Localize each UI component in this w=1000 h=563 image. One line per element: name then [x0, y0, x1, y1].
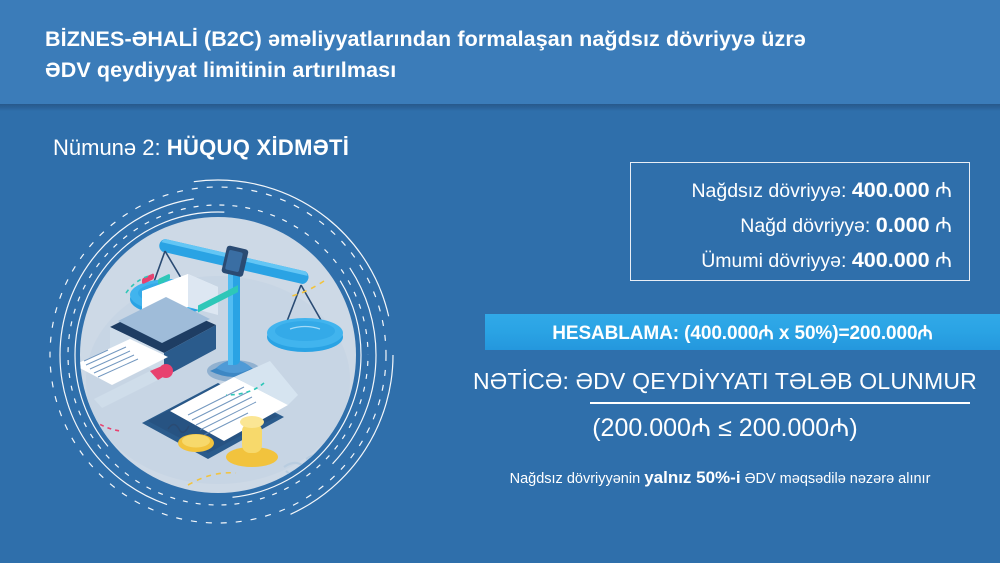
figure-row-cashless: Nağdsız dövriyyə: 400.000 ₼	[691, 176, 952, 204]
subtitle-lead: Nümunə 2:	[53, 135, 161, 160]
footnote-strong: yalnız 50%-i	[644, 468, 740, 487]
subtitle: Nümunə 2: HÜQUQ XİDMƏTİ	[53, 134, 349, 162]
result-underline	[590, 402, 970, 404]
figure-row-cash: Nağd dövriyyə: 0.000 ₼	[740, 211, 952, 239]
subtitle-strong: HÜQUQ XİDMƏTİ	[167, 135, 349, 160]
result-headline: NƏTİCƏ: ƏDV QEYDİYYATI TƏLƏB OLUNMUR	[470, 368, 980, 395]
figure-label: Ümumi dövriyyə:	[701, 250, 846, 272]
figure-value: 0.000	[876, 213, 930, 237]
turnover-figures-box: Nağdsız dövriyyə: 400.000 ₼ Nağd dövriyy…	[630, 162, 970, 281]
figure-row-total: Ümumi dövriyyə: 400.000 ₼	[701, 246, 952, 274]
slide-root: BİZNES-ƏHALİ (B2C) əməliyyatlarından for…	[0, 0, 1000, 563]
footnote: Nağdsız dövriyyənin yalnız 50%-i ƏDV məq…	[450, 468, 990, 488]
header-shadow-divider	[0, 104, 1000, 111]
calculation-text: HESABLAMA: (400.000₼ x 50%)=200.000₼	[552, 319, 932, 345]
result-comparison: (200.000₼ ≤ 200.000₼)	[470, 410, 980, 444]
figure-label: Nağd dövriyyə:	[740, 215, 870, 237]
manat-symbol: ₼	[935, 249, 952, 272]
footnote-part2: ƏDV məqsədilə nəzərə alınır	[741, 471, 931, 487]
page-title: BİZNES-ƏHALİ (B2C) əməliyyatlarından for…	[45, 24, 945, 86]
manat-symbol: ₼	[935, 214, 952, 237]
figure-label: Nağdsız dövriyyə:	[691, 180, 846, 202]
manat-symbol: ₼	[935, 179, 952, 202]
footnote-part1: Nağdsız dövriyyənin	[510, 471, 645, 487]
figure-value: 400.000	[852, 178, 930, 202]
calculation-bar: HESABLAMA: (400.000₼ x 50%)=200.000₼	[485, 314, 1000, 350]
figure-value: 400.000	[852, 248, 930, 272]
legal-service-illustration	[38, 175, 398, 535]
